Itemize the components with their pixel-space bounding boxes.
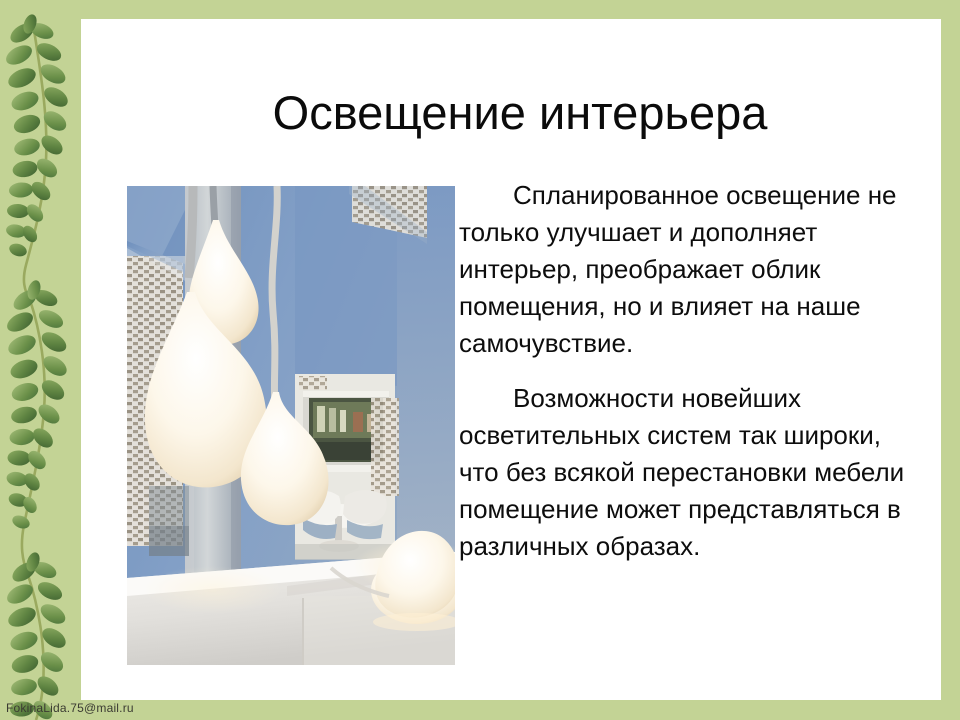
- border-band-right: [941, 0, 960, 720]
- body-text: Спланированное освещение не только улучш…: [459, 177, 923, 565]
- slide: Освещение интерьера: [0, 0, 960, 720]
- border-band-top: [0, 0, 960, 19]
- interior-lighting-photo: [127, 186, 455, 665]
- border-band-left: [0, 0, 81, 720]
- paragraph-1: Спланированное освещение не только улучш…: [459, 177, 923, 362]
- border-band-bottom: [0, 700, 960, 720]
- author-email-watermark: FokinaLida.75@mail.ru: [6, 700, 134, 716]
- paragraph-2: Возможности новейших осветительных систе…: [459, 380, 923, 565]
- slide-title: Освещение интерьера: [120, 86, 920, 140]
